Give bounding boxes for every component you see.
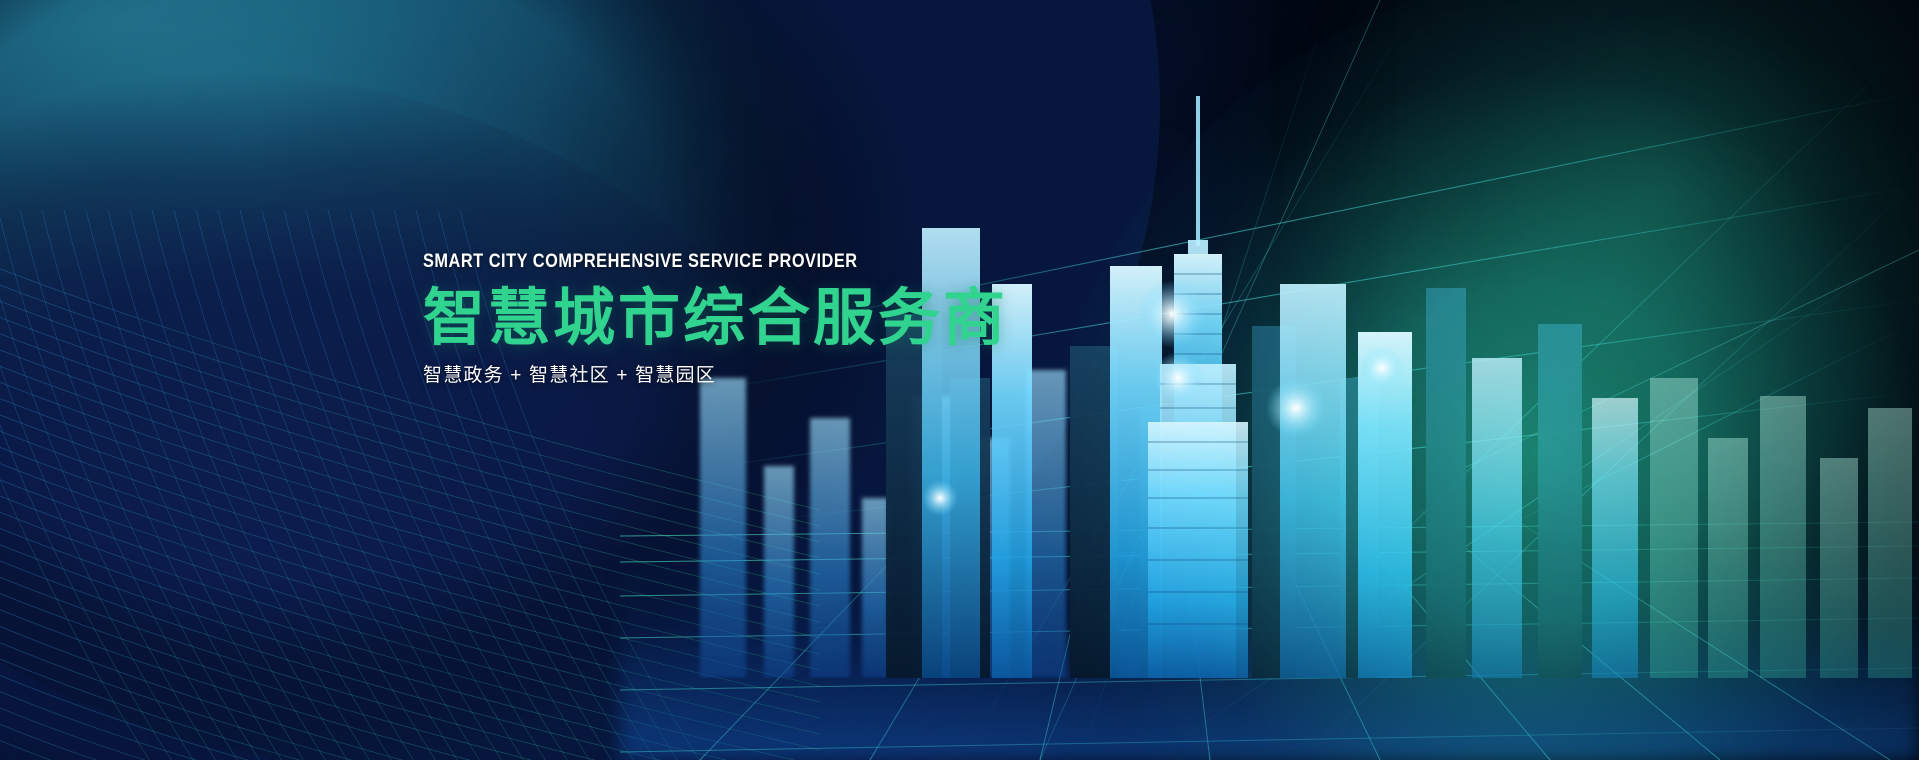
hero-copy-block: SMART CITY COMPREHENSIVE SERVICE PROVIDE…	[423, 252, 1183, 385]
subline-chinese: 智慧政务 + 智慧社区 + 智慧园区	[423, 366, 1183, 385]
hero-banner: SMART CITY COMPREHENSIVE SERVICE PROVIDE…	[0, 0, 1919, 760]
headline-chinese: 智慧城市综合服务商	[423, 287, 1183, 350]
tagline-english: SMART CITY COMPREHENSIVE SERVICE PROVIDE…	[423, 252, 1077, 271]
